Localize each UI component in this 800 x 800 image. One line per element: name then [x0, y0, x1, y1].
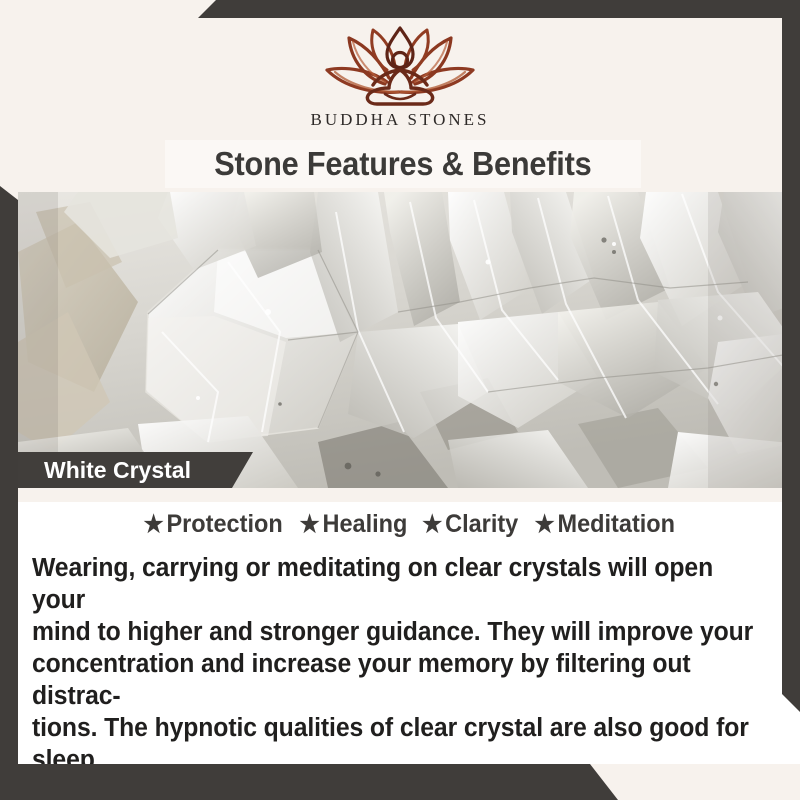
benefit-item-clarity: ★Clarity — [422, 510, 518, 539]
star-icon: ★ — [299, 511, 319, 538]
title-panel: Stone Features & Benefits — [165, 140, 641, 188]
description-text: Wearing, carrying or meditating on clear… — [32, 552, 765, 800]
header-section: BUDDHA STONES Stone Features & Benefits — [0, 0, 800, 192]
page-title: Stone Features & Benefits — [214, 145, 591, 183]
star-icon: ★ — [534, 511, 554, 538]
frame-left-accent — [0, 186, 18, 800]
infographic-card: BUDDHA STONES Stone Features & Benefits — [0, 0, 800, 800]
description-line: concentration and increase your memory b… — [32, 648, 765, 712]
stone-name-label: White Crystal — [44, 457, 191, 484]
benefit-label: Clarity — [445, 510, 518, 538]
panel-top-tint — [18, 488, 800, 502]
star-icon: ★ — [143, 511, 163, 538]
benefit-label: Healing — [322, 510, 407, 538]
brand-logo: BUDDHA STONES — [0, 22, 800, 130]
crystal-photo-art — [18, 192, 800, 488]
benefit-item-meditation: ★Meditation — [534, 510, 675, 539]
frame-right-accent — [782, 0, 800, 712]
stone-name-badge: White Crystal — [18, 452, 253, 488]
description-line: Wearing, carrying or meditating on clear… — [32, 552, 765, 616]
content-section: ★Protection ★Healing ★Clarity ★Meditatio… — [18, 488, 800, 764]
description-line: mind to higher and stronger guidance. Th… — [32, 616, 765, 648]
lotus-meditation-icon — [315, 22, 485, 106]
benefit-item-protection: ★Protection — [143, 510, 282, 539]
benefit-item-healing: ★Healing — [299, 510, 407, 539]
benefit-label: Meditation — [557, 510, 675, 538]
star-icon: ★ — [422, 511, 442, 538]
benefit-label: Protection — [166, 510, 282, 538]
brand-name: BUDDHA STONES — [311, 110, 490, 130]
benefits-list: ★Protection ★Healing ★Clarity ★Meditatio… — [18, 510, 800, 539]
crystal-photo — [18, 192, 800, 488]
